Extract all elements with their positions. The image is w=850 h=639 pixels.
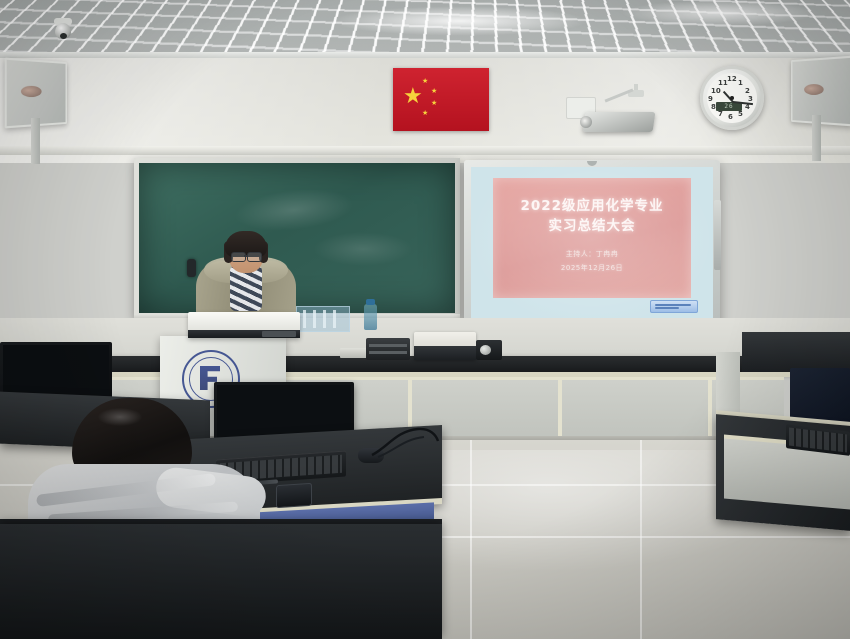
screen-display-area[interactable]: 2022级应用化学专业 实习总结大会 主持人：丁冉冉 2025年12月26日: [471, 167, 713, 327]
grid-ceiling: [0, 0, 850, 62]
equipment-rack-black: [366, 338, 410, 360]
green-chalkboard: [134, 158, 460, 318]
dome-security-camera-icon: [52, 18, 74, 44]
flag-star-small-4: ★: [422, 110, 428, 117]
interactive-smart-screen[interactable]: 2022级应用化学专业 实习总结大会 主持人：丁冉冉 2025年12月26日: [464, 160, 720, 334]
flag-star-small-3: ★: [431, 100, 437, 107]
lectern-control-panel[interactable]: [188, 312, 300, 338]
wall-rail: [0, 146, 850, 155]
clock-num-9: 9: [708, 95, 713, 103]
board-magnet-icon: [187, 259, 196, 277]
wall-clock: 12 1 2 3 4 5 6 7 8 9 10 11 26: [700, 66, 764, 130]
smartphone[interactable]: [276, 483, 312, 509]
clock-num-10: 10: [711, 87, 721, 95]
presenter-at-podium: [196, 235, 296, 317]
ceiling-light-glow: [330, 6, 590, 36]
ceiling-light-glow-2: [620, 0, 820, 26]
far-right-desk: [742, 332, 850, 372]
speaker-cone-icon: [21, 86, 42, 97]
clock-num-12: 12: [727, 75, 737, 83]
chinese-national-flag: ★ ★ ★ ★ ★: [393, 68, 489, 131]
desk-cables: [370, 425, 440, 459]
glasses-icon: [231, 252, 246, 262]
clock-num-5: 5: [738, 110, 743, 118]
clock-num-1: 1: [738, 79, 743, 87]
clock-num-7: 7: [718, 110, 723, 118]
glasses-icon: [247, 252, 262, 262]
projector-lens-icon: [580, 116, 592, 128]
speaker-cone-icon: [804, 84, 824, 95]
clock-num-6: 6: [728, 113, 733, 121]
flag-star-small-1: ★: [422, 78, 428, 85]
front-desk: [0, 524, 442, 639]
water-bottle: [364, 304, 377, 330]
chalkboard-surface: [139, 163, 455, 313]
flag-star-large: ★: [403, 86, 423, 108]
classroom-scene: ★ ★ ★ ★ ★ 12 1 2 3 4 5 6 7 8 9 10 11 26: [0, 0, 850, 639]
ceiling-projector: [578, 104, 656, 134]
screen-side-buttons[interactable]: [714, 200, 721, 270]
cable-paths: [370, 425, 440, 459]
equipment-instrument-white: [414, 332, 476, 360]
test-tube-rack: [296, 306, 350, 332]
clock-num-11: 11: [718, 79, 728, 87]
speaker-right-mount: [812, 115, 821, 161]
speaker-left-mount: [31, 118, 40, 164]
on-screen-toolbar[interactable]: [650, 300, 698, 313]
screen-camera-icon: [587, 161, 597, 166]
equipment-unit-knob: [476, 340, 502, 360]
clock-num-2: 2: [745, 87, 750, 95]
flag-star-small-2: ★: [431, 88, 437, 95]
